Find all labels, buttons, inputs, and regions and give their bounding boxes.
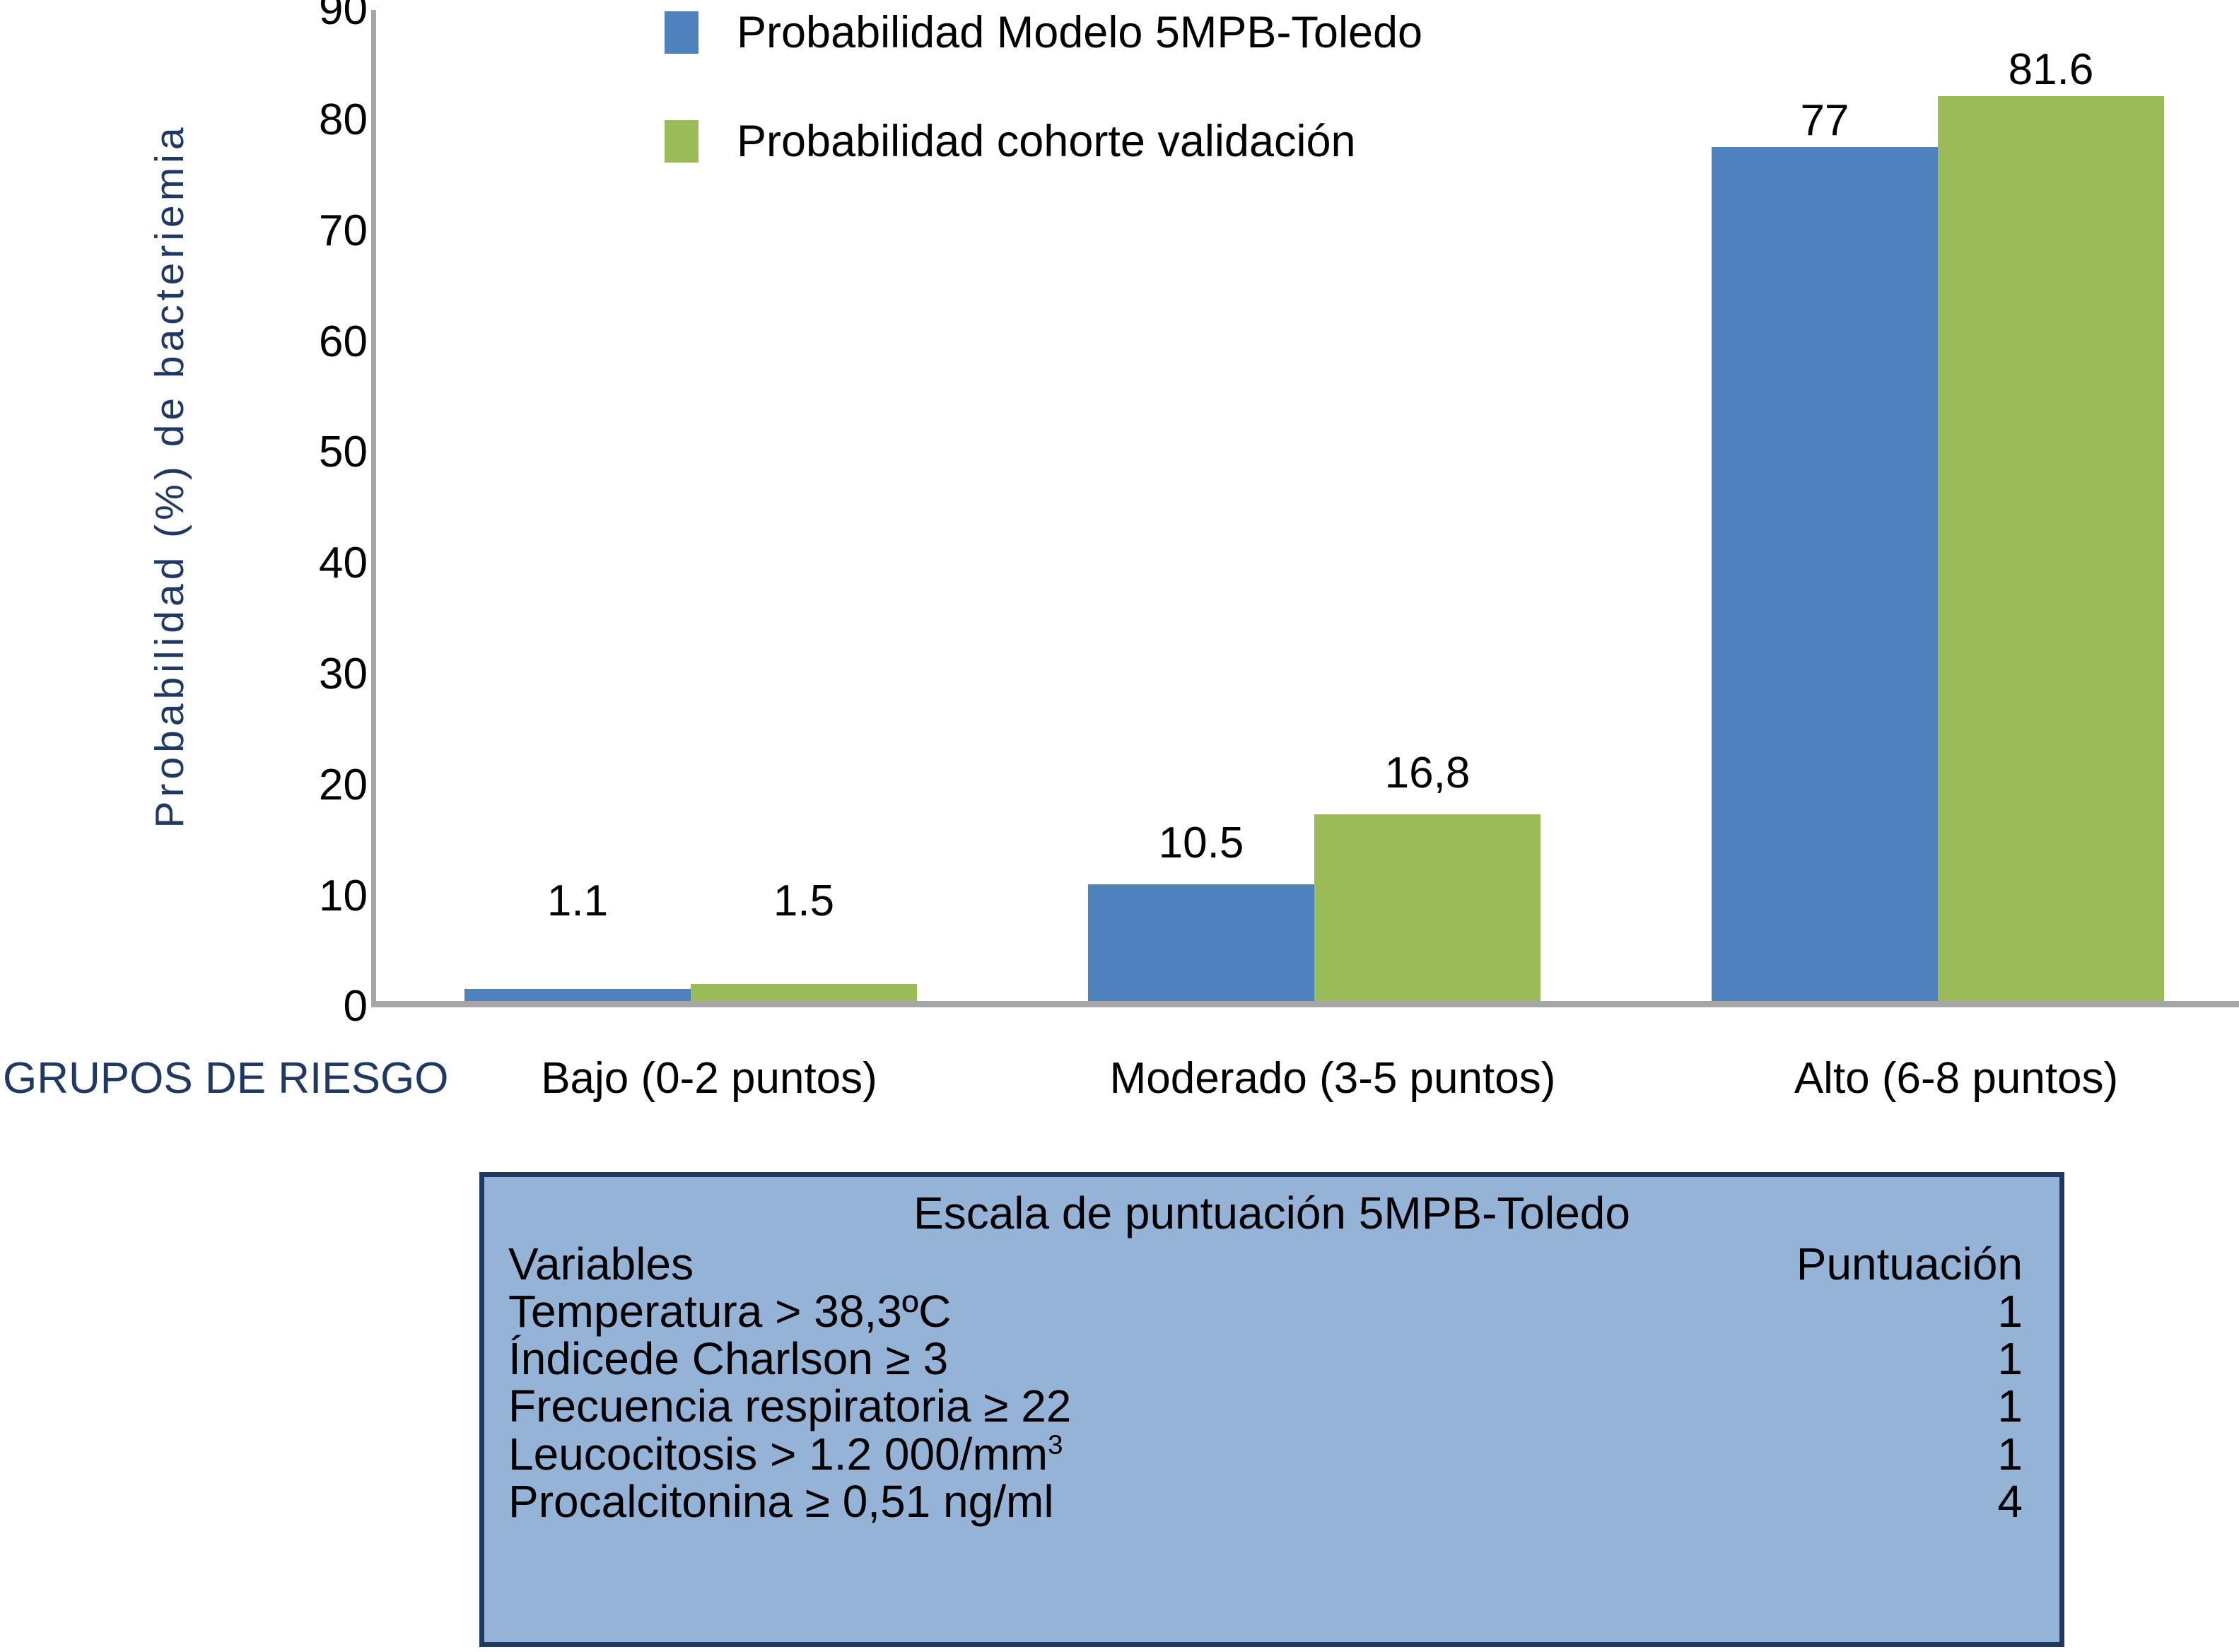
legend-item-cohorte: Probabilidad cohorte validación — [665, 109, 1422, 174]
x-category-moderado: Moderado (3-5 puntos) — [1110, 1053, 1556, 1103]
bar-bajo-modelo — [464, 989, 691, 1001]
y-tick-0: 0 — [344, 985, 368, 1029]
bar-moderado-modelo — [1088, 884, 1314, 1001]
row-score-leucocitosis: 1 — [1580, 1431, 2035, 1478]
header-variables: Variables — [508, 1241, 1580, 1288]
table-row: Temperatura > 38,3ºC 1 — [508, 1288, 2035, 1335]
score-table: Variables Puntuación Temperatura > 38,3º… — [508, 1241, 2035, 1525]
chart-legend: Probabilidad Modelo 5MPB-Toledo Probabil… — [665, 0, 1422, 174]
y-tick-20: 20 — [319, 763, 368, 807]
y-tick-30: 30 — [319, 652, 368, 696]
y-axis-title: Probabilidad (%) de bacteriemia — [146, 2, 193, 949]
table-header-row: Variables Puntuación — [508, 1241, 2035, 1288]
chart-figure: Probabilidad (%) de bacteriemia 90 80 70… — [0, 0, 2239, 1652]
legend-swatch-icon-cohorte — [665, 120, 698, 163]
row-variable-leucocitosis: Leucocitosis > 1.2 000/mm3 — [508, 1431, 1580, 1478]
x-category-alto: Alto (6-8 puntos) — [1794, 1053, 2118, 1103]
x-axis-line — [371, 1001, 2239, 1007]
bar-label-bajo-modelo: 1.1 — [464, 879, 691, 923]
row-variable-frecuencia: Frecuencia respiratoria ≥ 22 — [508, 1383, 1580, 1430]
y-tick-70: 70 — [319, 209, 368, 253]
y-tick-10: 10 — [319, 874, 368, 918]
row-score-frecuencia: 1 — [1580, 1383, 2035, 1430]
row-variable-temperatura: Temperatura > 38,3ºC — [508, 1288, 1580, 1335]
legend-swatch-icon-modelo — [665, 11, 698, 54]
table-row: Índicede Charlson ≥ 3 1 — [508, 1335, 2035, 1383]
bar-alto-modelo — [1712, 147, 1938, 1001]
x-axis-caption: GRUPOS DE RIESGO — [3, 1053, 448, 1103]
y-tick-50: 50 — [319, 430, 368, 474]
legend-label-modelo: Probabilidad Modelo 5MPB-Toledo — [737, 7, 1422, 58]
legend-label-cohorte: Probabilidad cohorte validación — [737, 116, 1356, 167]
bar-label-moderado-modelo: 10.5 — [1088, 821, 1314, 865]
row-variable-leucocitosis-text: Leucocitosis > 1.2 000/mm — [508, 1429, 1048, 1480]
bar-label-alto-modelo: 77 — [1712, 99, 1938, 143]
y-tick-40: 40 — [319, 541, 368, 585]
x-axis-labels: GRUPOS DE RIESGO Bajo (0-2 puntos) Moder… — [0, 1053, 2239, 1117]
row-score-temperatura: 1 — [1580, 1288, 2035, 1335]
table-row: Leucocitosis > 1.2 000/mm3 1 — [508, 1431, 2035, 1478]
y-tick-60: 60 — [319, 320, 368, 364]
table-row: Frecuencia respiratoria ≥ 22 1 — [508, 1383, 2035, 1430]
row-variable-leucocitosis-exponent: 3 — [1048, 1429, 1063, 1460]
score-box-title: Escala de puntuación 5MPB-Toledo — [508, 1190, 2035, 1238]
table-row: Procalcitonina ≥ 0,51 ng/ml 4 — [508, 1478, 2035, 1525]
row-score-charlson: 1 — [1580, 1335, 2035, 1383]
y-tick-90: 90 — [319, 0, 368, 32]
score-scale-box: Escala de puntuación 5MPB-Toledo Variabl… — [479, 1172, 2064, 1647]
y-axis-line — [371, 10, 376, 1007]
bar-bajo-cohorte — [691, 984, 917, 1001]
header-puntuacion: Puntuación — [1580, 1241, 2035, 1288]
row-score-procalcitonina: 4 — [1580, 1478, 2035, 1525]
y-tick-80: 80 — [319, 98, 368, 142]
bar-label-alto-cohorte: 81.6 — [1938, 48, 2164, 92]
legend-item-modelo: Probabilidad Modelo 5MPB-Toledo — [665, 0, 1422, 65]
bar-label-moderado-cohorte: 16,8 — [1314, 751, 1541, 795]
row-variable-procalcitonina: Procalcitonina ≥ 0,51 ng/ml — [508, 1478, 1580, 1525]
y-axis-ticks: 90 80 70 60 50 40 30 20 10 0 — [233, 0, 368, 1007]
bar-alto-cohorte — [1938, 96, 2164, 1001]
row-variable-charlson: Índicede Charlson ≥ 3 — [508, 1335, 1580, 1383]
bar-moderado-cohorte — [1314, 814, 1541, 1001]
bar-label-bajo-cohorte: 1.5 — [691, 879, 917, 923]
x-category-bajo: Bajo (0-2 puntos) — [541, 1053, 877, 1103]
